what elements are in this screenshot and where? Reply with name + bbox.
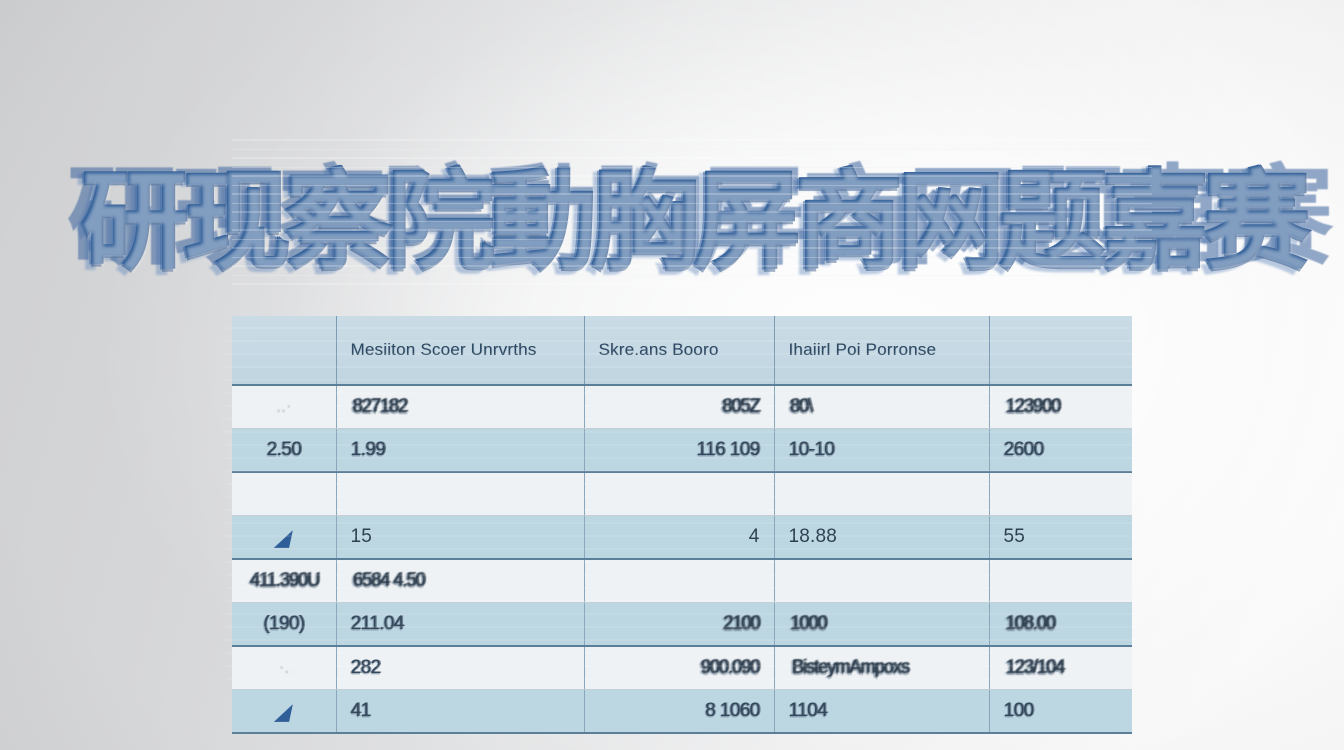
table-cell-text: 827182 [352,396,407,418]
table-cell: 100 [989,690,1132,734]
table-cell-text: ◢ [273,697,295,726]
table-cell: 1104 [774,690,989,734]
table-cell-text: 1000 [789,613,825,635]
table-row[interactable]: ◢418 10601104100 [232,690,1132,734]
table-cell [584,559,774,603]
column-header-0[interactable] [232,316,336,385]
data-table-container: Mesiiton Scoer Unrvrths Skre.ans Booro I… [232,316,1132,688]
column-header-1[interactable]: Mesiiton Scoer Unrvrths [336,316,584,385]
table-cell: 10-10 [774,429,989,473]
table-cell: 18.88 [774,516,989,560]
table-row[interactable]: (190)211.0421001000108.00 [232,603,1132,647]
table-cell-text: 18.88 [789,526,838,548]
table-cell: 6584 4.50 [336,559,584,603]
table-cell: 2600 [989,429,1132,473]
table-cell: 8 1060 [584,690,774,734]
table-cell-text: 805Z [721,396,758,418]
table-cell-text: 2100 [722,613,758,635]
column-header-2[interactable]: Skre.ans Booro [584,316,774,385]
table-cell [774,472,989,516]
table-row[interactable]: ◢15418.8855 [232,516,1132,560]
table-cell-text: ..· [276,396,291,418]
table-cell: ·. [232,646,336,690]
table-cell-text: 108.00 [1005,613,1054,635]
page-root: 研现察院動胸屏商网题嘉赛 研现察院動胸屏商网题嘉赛 研现察院動胸屏商网题嘉赛 研… [0,0,1344,750]
table-row[interactable] [232,472,1132,516]
table-cell-text: 6584 4.50 [352,570,424,592]
table-cell-text: 123/104 [1005,657,1064,679]
table-cell-text: 1.99 [351,439,386,461]
table-cell-text: 10-10 [789,439,835,461]
table-cell-text: 1104 [789,700,827,722]
table-cell [336,472,584,516]
table-cell: 108.00 [989,603,1132,647]
table-cell: (190) [232,603,336,647]
table-cell: BisteymAmpoxs [774,646,989,690]
table-cell: 123/104 [989,646,1132,690]
table-cell: 827182 [336,385,584,429]
page-title-ghost-c: 研现察院動胸屏商网题嘉赛 [234,134,1154,294]
table-cell-text: BisteymAmpoxs [791,657,908,679]
table-cell-text: ◢ [273,523,295,552]
table-cell-text: ·. [278,657,289,679]
table-cell [584,472,774,516]
table-cell: 4 [584,516,774,560]
table-header-row: Mesiiton Scoer Unrvrths Skre.ans Booro I… [232,316,1132,385]
column-header-3[interactable]: Ihaiirl Poi Porronse [774,316,989,385]
table-row[interactable]: ·.282900.090BisteymAmpoxs123/104 [232,646,1132,690]
table-row[interactable]: ..·827182805Z80\123900 [232,385,1132,429]
table-cell: 1.99 [336,429,584,473]
column-header-4[interactable] [989,316,1132,385]
table-cell-text: 100 [1004,700,1034,722]
table-cell-text: 15 [351,526,373,548]
table-cell-text: 55 [1004,526,1026,548]
table-cell [232,472,336,516]
table-cell: 15 [336,516,584,560]
table-cell: 116 109 [584,429,774,473]
table-cell [989,559,1132,603]
table-cell: 805Z [584,385,774,429]
table-cell-text: 123900 [1005,396,1060,418]
table-cell-text: 411.390U [249,570,318,592]
table-cell: 411.390U [232,559,336,603]
table-cell: 2100 [584,603,774,647]
table-cell: 282 [336,646,584,690]
table-cell: 900.090 [584,646,774,690]
table-cell-text: (190) [263,613,304,635]
table-cell: 41 [336,690,584,734]
table-cell [989,472,1132,516]
table-cell: 1000 [774,603,989,647]
table-cell-text: 8 1060 [705,700,760,722]
table-cell-text: 211.04 [351,613,404,635]
table-cell: 80\ [774,385,989,429]
table-cell: ..· [232,385,336,429]
table-cell-text: 4 [749,526,760,548]
table-row[interactable]: 2.501.99116 10910-102600 [232,429,1132,473]
table-cell-text: 41 [351,700,371,722]
data-table: Mesiiton Scoer Unrvrths Skre.ans Booro I… [232,316,1132,734]
table-cell-text: 2600 [1004,439,1043,461]
table-cell: ◢ [232,516,336,560]
table-cell-text: 900.090 [700,657,759,679]
table-row[interactable]: 411.390U6584 4.50 [232,559,1132,603]
page-title: 研现察院動胸屏商网题嘉赛 研现察院動胸屏商网题嘉赛 研现察院動胸屏商网题嘉赛 研… [232,132,1152,292]
table-cell-text: 2.50 [266,439,301,461]
table-body: ..·827182805Z80\1239002.501.99116 10910-… [232,385,1132,733]
table-cell-text: 282 [351,657,381,679]
table-cell: 211.04 [336,603,584,647]
table-cell-text: 116 109 [696,439,759,461]
table-cell: 55 [989,516,1132,560]
table-cell: 123900 [989,385,1132,429]
table-header: Mesiiton Scoer Unrvrths Skre.ans Booro I… [232,316,1132,385]
table-cell [774,559,989,603]
table-cell-text: 80\ [789,396,811,418]
table-cell: ◢ [232,690,336,734]
table-cell: 2.50 [232,429,336,473]
